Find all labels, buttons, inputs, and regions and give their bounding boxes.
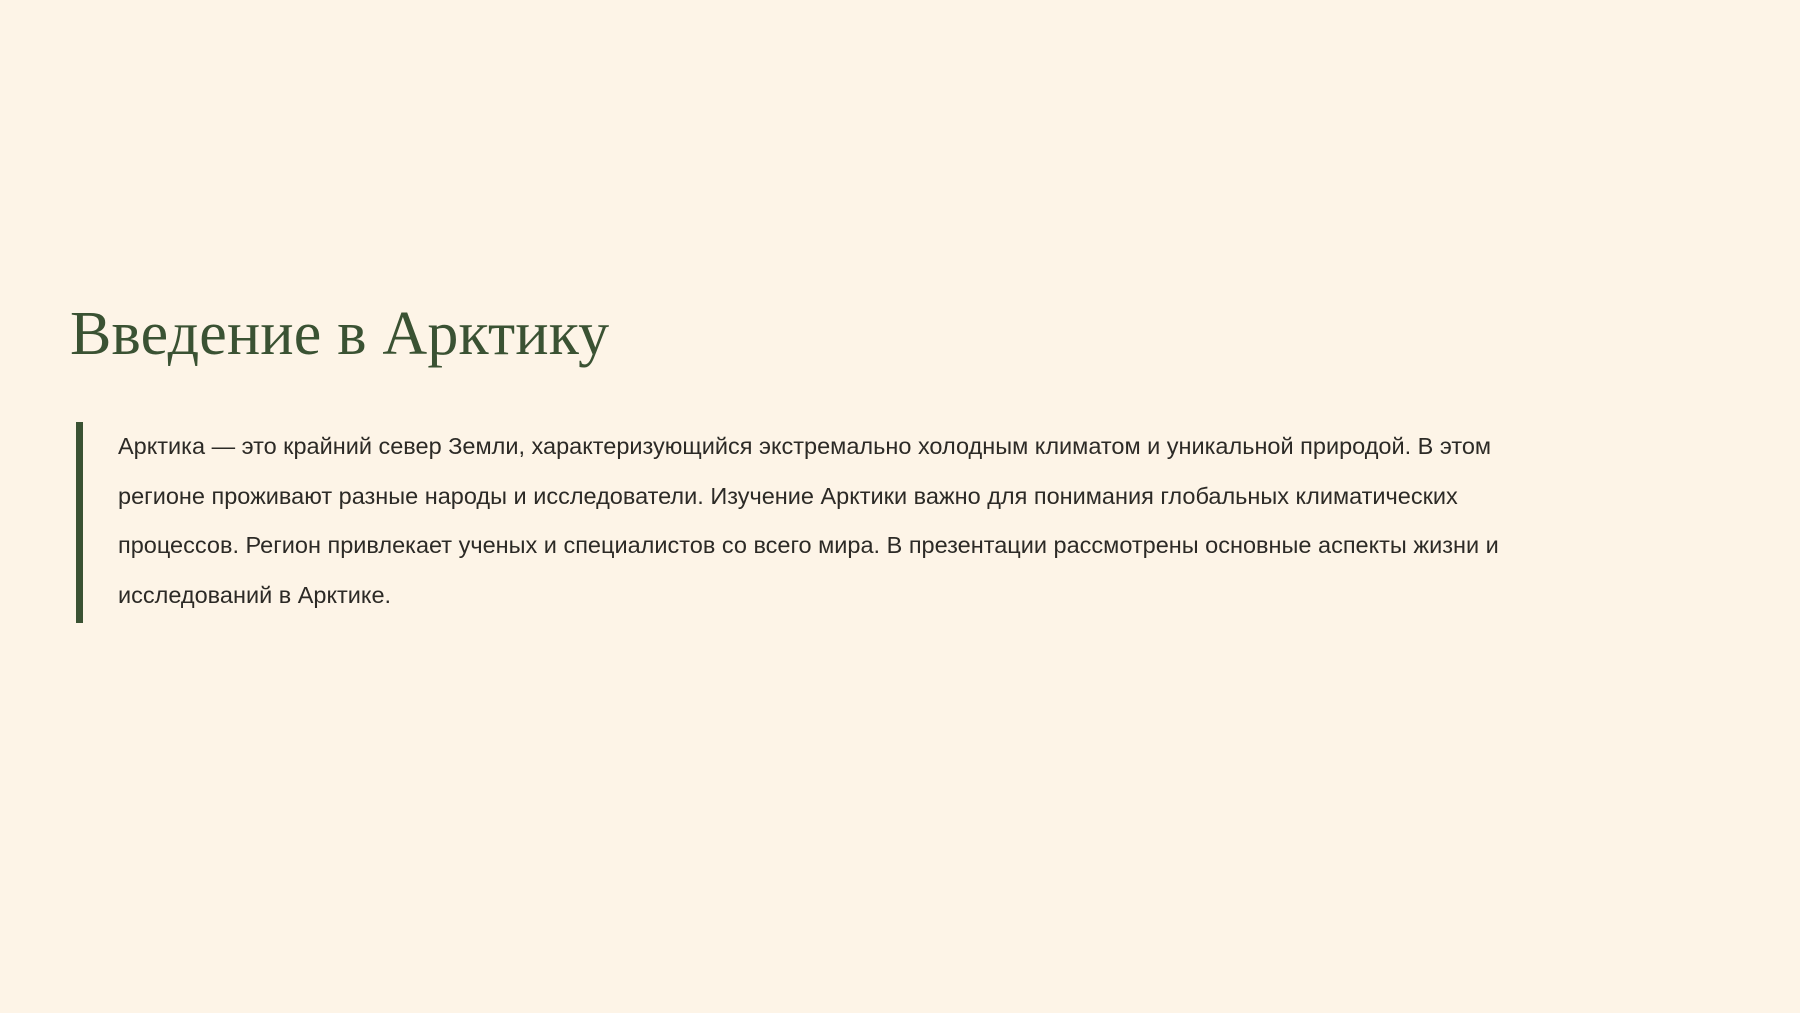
page-title: Введение в Арктику <box>70 300 1730 369</box>
body-block: Арктика — это крайний север Земли, харак… <box>70 422 1730 623</box>
slide: Введение в Арктику Арктика — это крайний… <box>0 0 1800 1013</box>
slide-content: Введение в Арктику Арктика — это крайний… <box>70 300 1730 623</box>
body-paragraph: Арктика — это крайний север Земли, харак… <box>118 422 1508 620</box>
accent-bar <box>76 422 83 623</box>
